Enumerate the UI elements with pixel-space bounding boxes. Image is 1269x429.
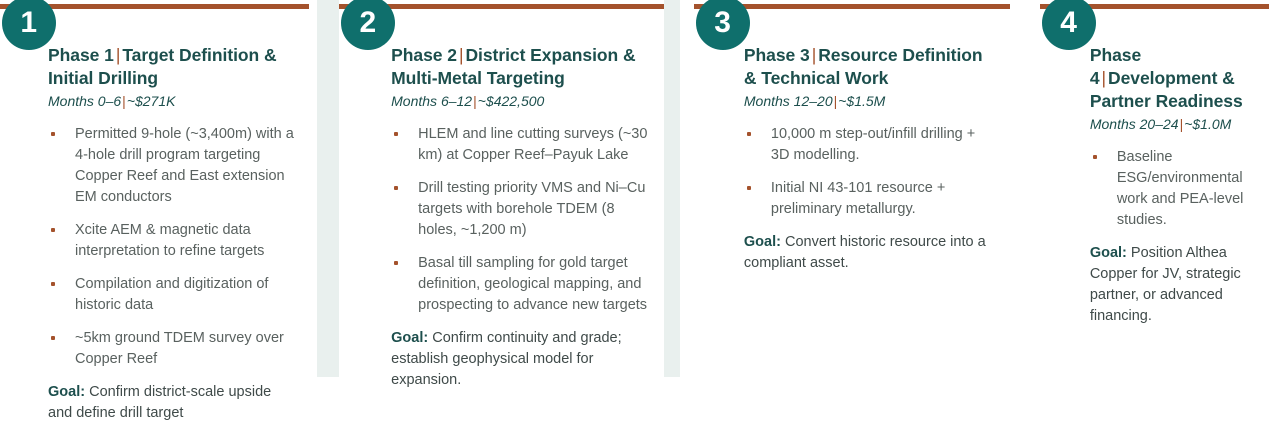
phase-title-prefix: Phase 1 bbox=[48, 45, 114, 65]
phase-title-2: Phase 2|District Expansion & Multi-Metal… bbox=[391, 44, 650, 90]
goal-label: Goal: bbox=[48, 384, 85, 400]
phase-title-separator: | bbox=[810, 45, 819, 65]
phase-meta-cost: ~$422,500 bbox=[478, 93, 545, 109]
list-item: Drill testing priority VMS and Ni–Cu tar… bbox=[391, 178, 650, 241]
phase-bullet-list-4: Baseline ESG/environmental work and PEA-… bbox=[1090, 147, 1267, 231]
phase-meta-months: Months 12–20 bbox=[744, 93, 833, 109]
phase-meta-3: Months 12–20|~$1.5M bbox=[744, 92, 996, 111]
phase-bullet-list-2: HLEM and line cutting surveys (~30 km) a… bbox=[391, 124, 650, 316]
phase-meta-months: Months 0–6 bbox=[48, 93, 121, 109]
phase-card-3: 3 Phase 3|Resource Definition & Technica… bbox=[694, 0, 1010, 429]
phase-meta-cost: ~$1.5M bbox=[838, 93, 885, 109]
phase-goal-1: Goal: Confirm district-scale upside and … bbox=[48, 382, 295, 424]
phase-goal-2: Goal: Confirm continuity and grade; esta… bbox=[391, 328, 650, 391]
phase-title-prefix: Phase 2 bbox=[391, 45, 457, 65]
list-item: 10,000 m step-out/infill drilling + 3D m… bbox=[744, 124, 996, 166]
phase-bullet-list-1: Permitted 9-hole (~3,400m) with a 4-hole… bbox=[48, 124, 295, 370]
phase-meta-months: Months 6–12 bbox=[391, 93, 472, 109]
phase-card-body-2: Phase 2|District Expansion & Multi-Metal… bbox=[339, 0, 664, 391]
list-item: Compilation and digitization of historic… bbox=[48, 274, 295, 316]
phase-meta-4: Months 20–24|~$1.0M bbox=[1090, 115, 1267, 134]
phase-goal-4: Goal: Position Althea Copper for JV, str… bbox=[1090, 243, 1267, 327]
list-item: ~5km ground TDEM survey over Copper Reef bbox=[48, 328, 295, 370]
list-item: Permitted 9-hole (~3,400m) with a 4-hole… bbox=[48, 124, 295, 208]
phase-title-4: Phase 4|Development & Partner Readiness bbox=[1090, 44, 1267, 113]
goal-label: Goal: bbox=[1090, 245, 1127, 261]
phase-meta-months: Months 20–24 bbox=[1090, 116, 1179, 132]
list-item: Xcite AEM & magnetic data interpretation… bbox=[48, 220, 295, 262]
goal-label: Goal: bbox=[391, 330, 428, 346]
phase-card-2: 2 Phase 2|District Expansion & Multi-Met… bbox=[339, 0, 664, 429]
list-item: Baseline ESG/environmental work and PEA-… bbox=[1090, 147, 1267, 231]
phase-meta-cost: ~$1.0M bbox=[1184, 116, 1231, 132]
phase-card-body-1: Phase 1|Target Definition & Initial Dril… bbox=[0, 0, 309, 424]
phase-title-rest: Development & Partner Readiness bbox=[1090, 68, 1243, 111]
phase-goal-3: Goal: Convert historic resource into a c… bbox=[744, 232, 996, 274]
phase-title-prefix: Phase 3 bbox=[744, 45, 810, 65]
phase-roadmap: 1 Phase 1|Target Definition & Initial Dr… bbox=[0, 0, 1269, 429]
goal-text: Convert historic resource into a complia… bbox=[744, 234, 986, 271]
goal-label: Goal: bbox=[744, 234, 781, 250]
list-item: Basal till sampling for gold target defi… bbox=[391, 253, 650, 316]
phase-card-1: 1 Phase 1|Target Definition & Initial Dr… bbox=[0, 0, 309, 429]
phase-title-1: Phase 1|Target Definition & Initial Dril… bbox=[48, 44, 295, 90]
phase-meta-2: Months 6–12|~$422,500 bbox=[391, 92, 650, 111]
phase-card-4: 4 Phase 4|Development & Partner Readines… bbox=[1040, 0, 1269, 429]
phase-title-separator: | bbox=[1100, 68, 1109, 88]
phase-meta-cost: ~$271K bbox=[127, 93, 176, 109]
phase-bullet-list-3: 10,000 m step-out/infill drilling + 3D m… bbox=[744, 124, 996, 220]
list-item: HLEM and line cutting surveys (~30 km) a… bbox=[391, 124, 650, 166]
phase-meta-1: Months 0–6|~$271K bbox=[48, 92, 295, 111]
phase-title-3: Phase 3|Resource Definition & Technical … bbox=[744, 44, 996, 90]
list-item: Initial NI 43-101 resource + preliminary… bbox=[744, 178, 996, 220]
